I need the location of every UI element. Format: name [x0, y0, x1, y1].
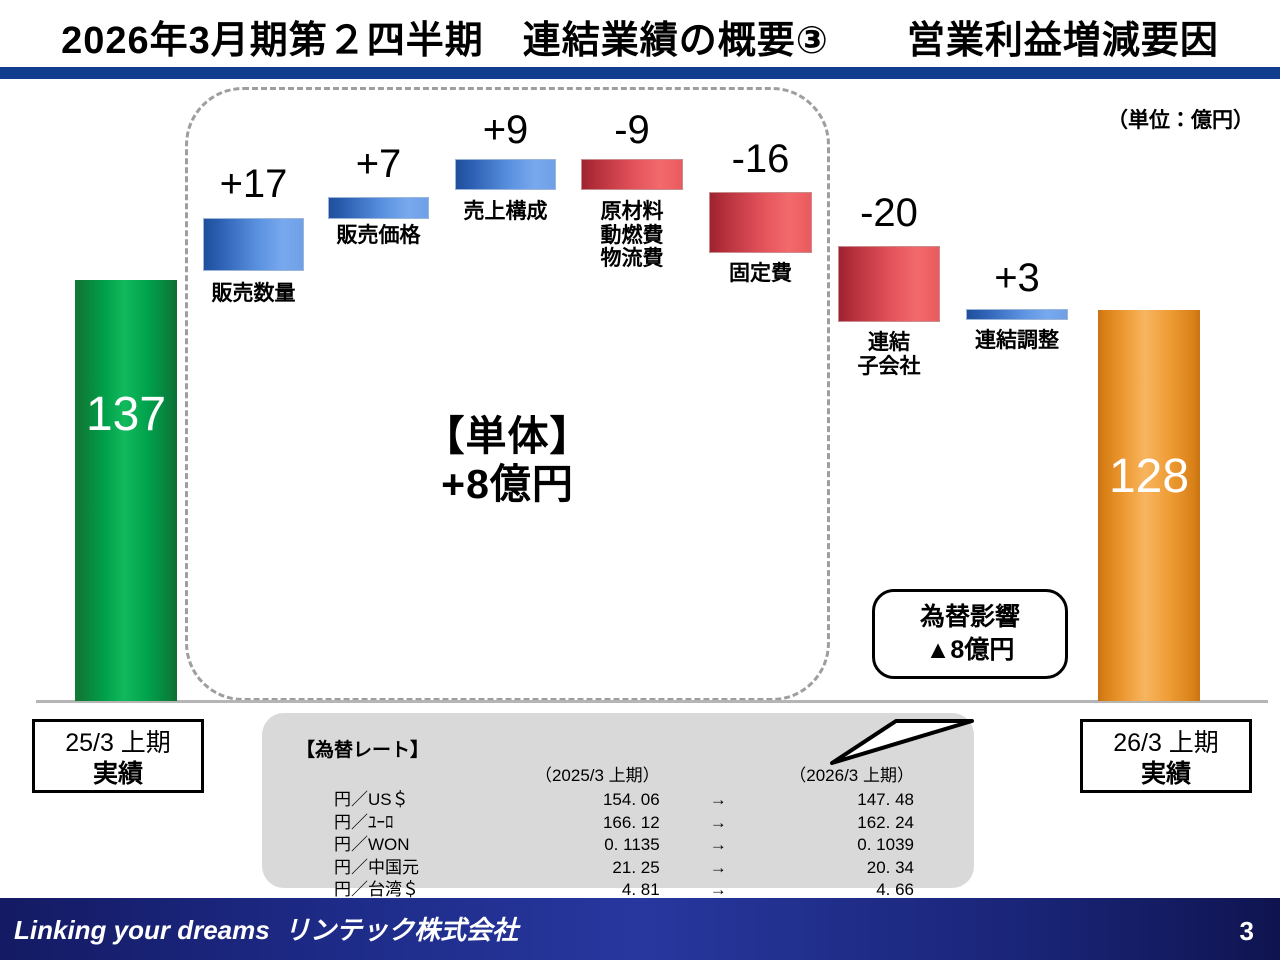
fx-rate-new: 20. 34: [753, 857, 948, 879]
fx-col-currency: [308, 765, 499, 789]
bar-step-raw-material-fuel-logistics: [581, 159, 683, 190]
end-period-line1: 26/3 上期: [1083, 728, 1249, 759]
fx-rate-table: （2025/3 上期） （2026/3 上期） 円／US＄ 154. 06 → …: [308, 765, 948, 902]
fx-col-prior-period: （2025/3 上期）: [499, 765, 684, 789]
fx-currency-name: 円／中国元: [308, 857, 499, 879]
bar-step-consolidation-adjustment-value: +3: [966, 256, 1068, 301]
bar-step-consolidation-adjustment-label: 連結調整: [956, 329, 1078, 353]
standalone-annotation-line1: 【単体】: [185, 412, 830, 460]
bar-step-consolidation-adjustment: [966, 309, 1068, 320]
fx-rate-new: 162. 24: [753, 812, 948, 834]
start-period-line2: 実績: [35, 759, 201, 790]
arrow-right-icon: →: [684, 812, 753, 834]
fx-currency-name: 円／US＄: [308, 789, 499, 811]
fx-impact-callout-line1: 為替影響: [875, 601, 1065, 634]
fx-panel-title: 【為替レート】: [296, 735, 429, 762]
bar-end-total: [1098, 310, 1200, 701]
fx-currency-name: 円／ﾕｰﾛ: [308, 812, 499, 834]
fx-table-header-row: （2025/3 上期） （2026/3 上期）: [308, 765, 948, 789]
fx-rate-old: 0. 1135: [499, 834, 684, 856]
fx-col-current-period: （2026/3 上期）: [753, 765, 948, 789]
bar-step-fixed-cost-label: 固定費: [699, 262, 822, 286]
fx-rate-new: 0. 1039: [753, 834, 948, 856]
end-period-box: 26/3 上期 実績: [1080, 719, 1252, 793]
bar-end-total-value: 128: [1098, 449, 1200, 504]
bar-step-sales-mix: [455, 159, 556, 190]
standalone-group-annotation: 【単体】 +8億円: [185, 412, 830, 509]
fx-currency-name: 円／WON: [308, 834, 499, 856]
fx-col-arrow: [684, 765, 753, 789]
bar-step-sales-price: [328, 197, 429, 219]
fx-rate-new: 147. 48: [753, 789, 948, 811]
start-period-box: 25/3 上期 実績: [32, 719, 204, 793]
company-logo: Linking your dreams リンテック株式会社: [14, 910, 518, 947]
bar-step-consolidated-subsidiaries-label: 連結 子会社: [828, 331, 950, 378]
bar-step-sales-mix-value: +9: [455, 108, 556, 153]
bar-start-total-value: 137: [75, 387, 177, 442]
arrow-right-icon: →: [684, 857, 753, 879]
bar-step-fixed-cost: [709, 192, 812, 253]
page-number: 3: [1240, 916, 1254, 947]
bar-step-sales-volume: [203, 218, 304, 271]
table-row: 円／WON 0. 1135 → 0. 1039: [308, 834, 948, 856]
bar-step-sales-mix-label: 売上構成: [445, 200, 566, 224]
start-period-line1: 25/3 上期: [35, 728, 201, 759]
table-row: 円／US＄ 154. 06 → 147. 48: [308, 789, 948, 811]
bar-step-sales-price-label: 販売価格: [318, 224, 439, 248]
bar-step-raw-material-fuel-logistics-value: -9: [581, 108, 683, 153]
bar-step-sales-volume-value: +17: [203, 162, 304, 207]
bar-step-fixed-cost-value: -16: [709, 137, 812, 182]
fx-rate-old: 166. 12: [499, 812, 684, 834]
bar-step-sales-price-value: +7: [328, 142, 429, 187]
standalone-annotation-line2: +8億円: [185, 460, 830, 508]
fx-impact-callout: 為替影響 ▲8億円: [872, 589, 1068, 679]
fx-rate-old: 154. 06: [499, 789, 684, 811]
bar-step-sales-volume-label: 販売数量: [193, 282, 314, 306]
waterfall-chart: 137 +17 販売数量 +7 販売価格 +9 売上構成 -9 原材料 動燃費 …: [0, 0, 1280, 760]
table-row: 円／ﾕｰﾛ 166. 12 → 162. 24: [308, 812, 948, 834]
arrow-right-icon: →: [684, 834, 753, 856]
table-row: 円／中国元 21. 25 → 20. 34: [308, 857, 948, 879]
bar-step-raw-material-fuel-logistics-label: 原材料 動燃費 物流費: [571, 200, 693, 271]
fx-rate-old: 21. 25: [499, 857, 684, 879]
fx-impact-callout-line2: ▲8億円: [875, 634, 1065, 667]
arrow-right-icon: →: [684, 789, 753, 811]
bar-start-total: [75, 280, 177, 701]
bar-step-consolidated-subsidiaries-value: -20: [838, 191, 940, 236]
end-period-line2: 実績: [1083, 759, 1249, 790]
bar-step-consolidated-subsidiaries: [838, 246, 940, 322]
